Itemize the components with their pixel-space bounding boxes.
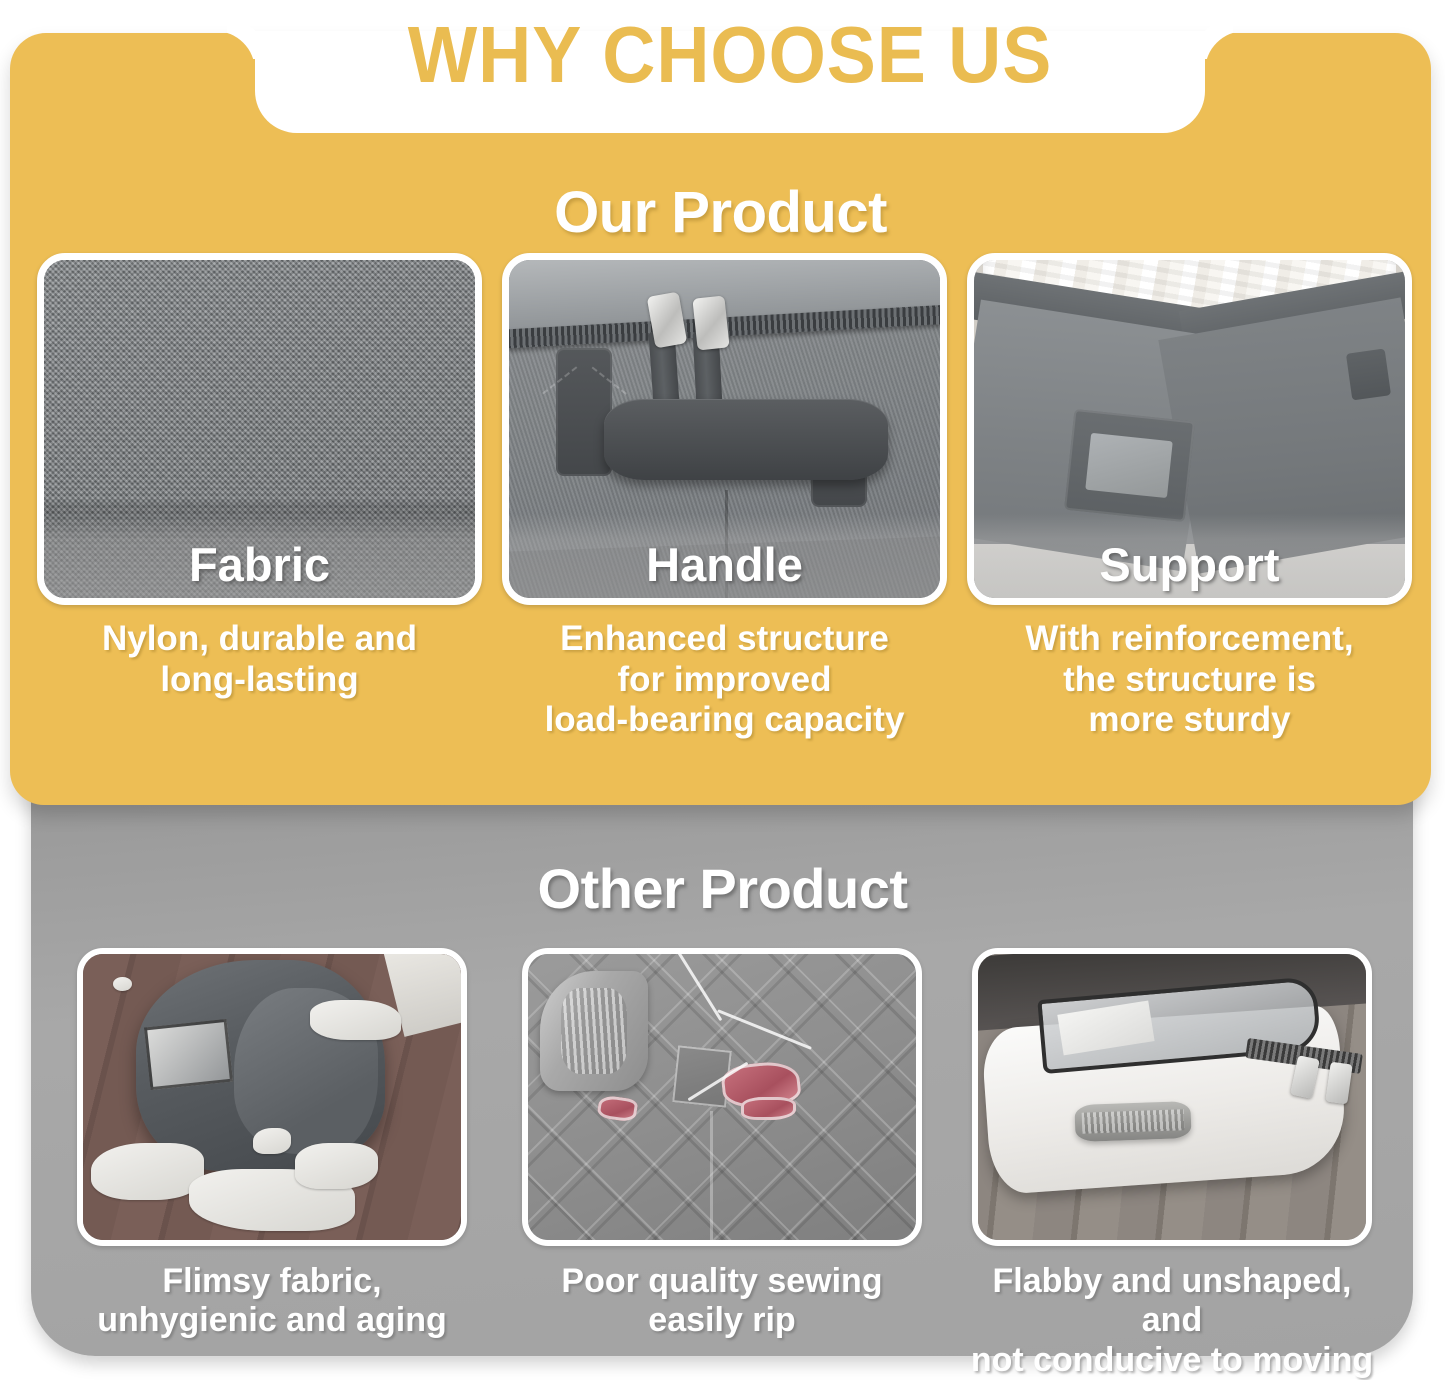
other-product-caption-1: Flimsy fabric, unhygienic and aging xyxy=(97,1262,446,1341)
peeling-flake xyxy=(91,1143,204,1200)
our-product-caption-2: Enhanced structure for improved load-bea… xyxy=(545,619,905,741)
other-product-caption-3: Flabby and unshaped, and not conducive t… xyxy=(962,1262,1382,1380)
our-product-section-title: Our Product xyxy=(10,179,1431,246)
our-product-caption-1: Nylon, durable and long-lasting xyxy=(102,619,417,700)
other-product-card-3: Flabby and unshaped, and not conducive t… xyxy=(962,948,1382,1380)
our-product-badge-2: Handle xyxy=(509,537,940,592)
zipper-slider xyxy=(693,296,730,351)
quilted-bag-with-torn-seams-photo xyxy=(528,954,916,1240)
our-product-badge-3: Support xyxy=(974,537,1405,592)
infographic-canvas: Other Product Flimsy fabric, un xyxy=(0,0,1445,1374)
center-seam xyxy=(710,1111,713,1240)
other-product-caption-2: Poor quality sewing easily rip xyxy=(561,1262,882,1341)
other-product-card-2: Poor quality sewing easily rip xyxy=(512,948,932,1380)
our-product-card-row: Fabric Nylon, durable and long-lasting xyxy=(37,253,1412,741)
other-product-card-1: Flimsy fabric, unhygienic and aging xyxy=(62,948,482,1380)
our-product-card-3: Support With reinforcement, the structur… xyxy=(967,253,1412,741)
collapsed-shapeless-white-bag-photo xyxy=(978,954,1366,1240)
our-product-caption-3: With reinforcement, the structure is mor… xyxy=(1025,619,1353,741)
other-product-section-title: Other Product xyxy=(0,856,1445,921)
peeling-flake xyxy=(253,1128,291,1154)
destroyed-flaking-bag-on-floor-photo xyxy=(83,954,461,1240)
other-product-card-row: Flimsy fabric, unhygienic and aging Poor xyxy=(62,948,1382,1380)
cracked-clear-window xyxy=(144,1018,233,1089)
webbing-handle xyxy=(1074,1101,1192,1142)
other-product-image-frame-1 xyxy=(77,948,467,1246)
other-product-image-frame-3 xyxy=(972,948,1372,1246)
other-product-image-frame-2 xyxy=(522,948,922,1246)
label-window xyxy=(1064,409,1195,522)
our-product-image-frame-1: Fabric xyxy=(37,253,482,605)
our-product-badge-1: Fabric xyxy=(44,537,475,592)
peeling-flake xyxy=(295,1143,378,1189)
our-product-image-frame-2: Handle xyxy=(502,253,947,605)
our-product-card-1: Fabric Nylon, durable and long-lasting xyxy=(37,253,482,741)
our-product-image-frame-3: Support xyxy=(967,253,1412,605)
leather-carry-handle xyxy=(604,399,888,480)
fabric-tear xyxy=(741,1097,795,1120)
side-handle-tab xyxy=(1346,349,1391,401)
peeling-flake xyxy=(310,1000,401,1040)
detached-webbing-strap xyxy=(540,971,649,1091)
our-product-card-2: Handle Enhanced structure for improved l… xyxy=(502,253,947,741)
page-title: WHY CHOOSE US xyxy=(293,7,1167,103)
